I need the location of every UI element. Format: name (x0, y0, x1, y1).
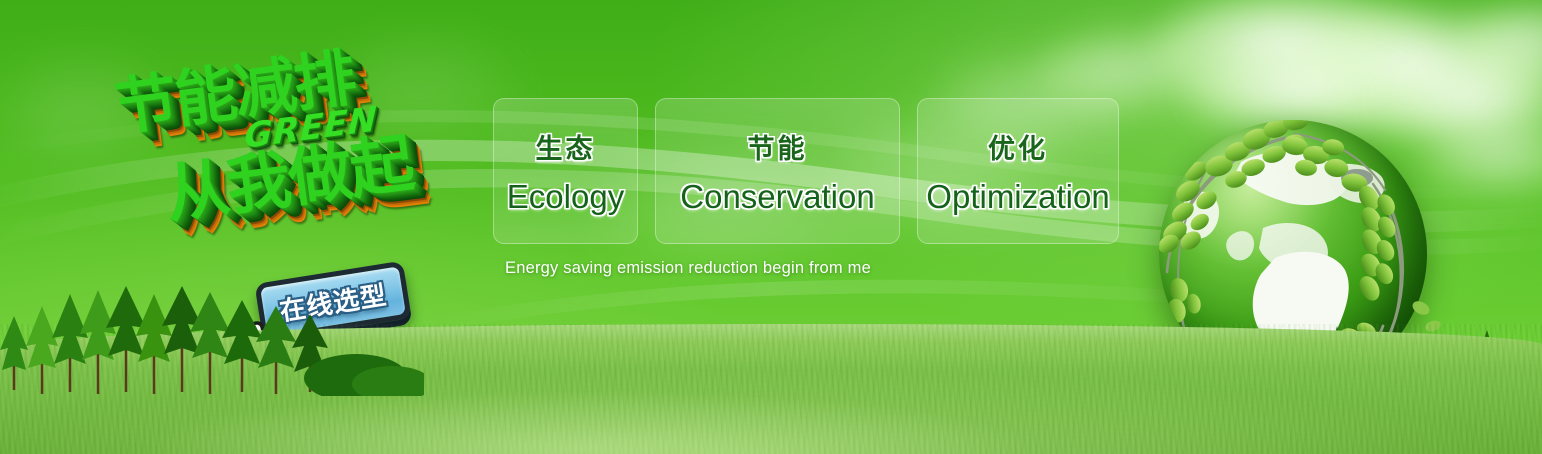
feature-card-optimization-cn: 优化 (988, 127, 1048, 166)
grass-field-icon (0, 324, 1542, 454)
eco-hero-banner: 节能减排 GREEN 从我做起 在线选型 生态 Ecology 节能 Conse… (0, 0, 1542, 454)
banner-tagline: Energy saving emission reduction begin f… (505, 259, 871, 278)
feature-card-optimization[interactable]: 优化 Optimization (917, 98, 1119, 244)
cloud-icon (1150, 0, 1450, 110)
feature-card-conservation-en: Conservation (680, 178, 874, 216)
feature-card-optimization-en: Optimization (926, 178, 1109, 216)
feature-card-conservation-cn: 节能 (748, 127, 808, 166)
cloud-icon (1460, 0, 1542, 90)
feature-card-list: 生态 Ecology 节能 Conservation 优化 Optimizati… (493, 98, 1119, 244)
feature-card-ecology[interactable]: 生态 Ecology (493, 98, 638, 244)
hero-title-artwork: 节能减排 GREEN 从我做起 (96, 36, 496, 266)
feature-card-ecology-en: Ecology (507, 178, 624, 216)
feature-card-conservation[interactable]: 节能 Conservation (655, 98, 900, 244)
online-selection-button-label: 在线选型 (277, 274, 389, 327)
feature-card-ecology-cn: 生态 (536, 127, 596, 166)
